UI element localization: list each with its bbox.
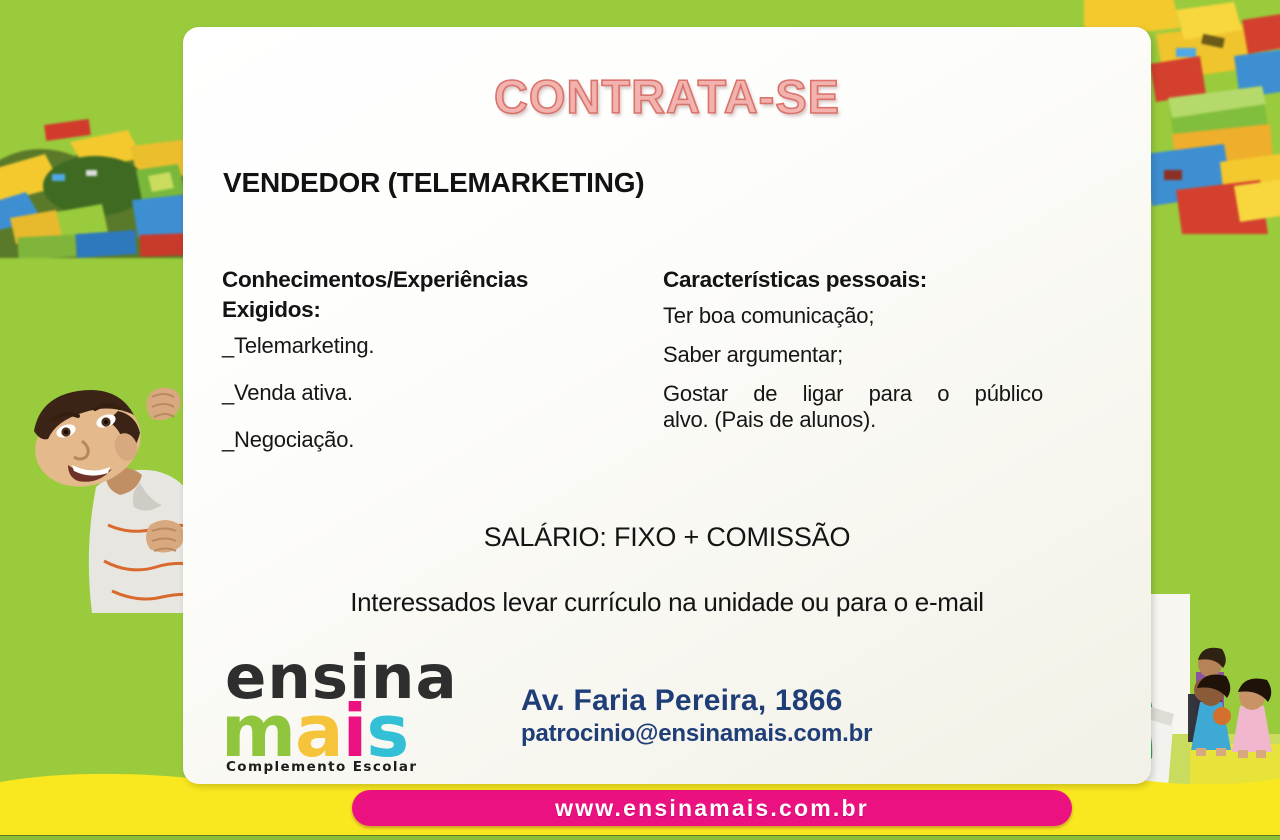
logo-word-mais: mais [221, 702, 509, 761]
application-instructions: Interessados levar currículo na unidade … [183, 587, 1151, 618]
street-address: Av. Faria Pereira, 1866 [521, 684, 931, 718]
website-banner[interactable]: www.ensinamais.com.br [352, 790, 1072, 826]
personal-trait-item: Ter boa comunicação; [663, 305, 1043, 327]
personal-trait-item: Saber argumentar; [663, 344, 1043, 366]
contact-block: Av. Faria Pereira, 1866 patrocinio@ensin… [521, 684, 931, 748]
requirement-item: _Telemarketing. [222, 335, 622, 357]
poster-title: CONTRATA-SE [183, 69, 1151, 124]
requirement-item: _Negociação. [222, 429, 622, 451]
job-title: VENDEDOR (TELEMARKETING) [223, 167, 644, 199]
personal-traits-column: Características pessoais: Ter boa comuni… [663, 265, 1043, 448]
website-url: www.ensinamais.com.br [555, 795, 869, 822]
poster-card: CONTRATA-SE VENDEDOR (TELEMARKETING) Con… [183, 27, 1151, 784]
toy-blocks-left-art [0, 108, 205, 258]
toy-blocks-photo-left [0, 108, 205, 258]
personal-trait-item: Gostar de ligar para o público [663, 383, 1043, 405]
salary-line: SALÁRIO: FIXO + COMISSÃO [183, 522, 1151, 553]
boy-peeking-photo [0, 375, 195, 620]
boy-peeking-art [0, 375, 195, 620]
requirements-heading: Conhecimentos/Experiências Exigidos: [222, 265, 622, 325]
personal-trait-item: alvo. (Pais de alunos). [663, 409, 1043, 431]
personal-traits-heading: Características pessoais: [663, 265, 1043, 295]
contact-email[interactable]: patrocinio@ensinamais.com.br [521, 720, 931, 748]
bottom-green-edge [0, 835, 1280, 840]
logo-tagline: Complemento Escolar [226, 759, 509, 775]
requirement-item: _Venda ativa. [222, 382, 622, 404]
ensina-mais-logo: ensina mais Complemento Escolar [221, 652, 509, 774]
requirements-column: Conhecimentos/Experiências Exigidos: _Te… [222, 265, 622, 476]
